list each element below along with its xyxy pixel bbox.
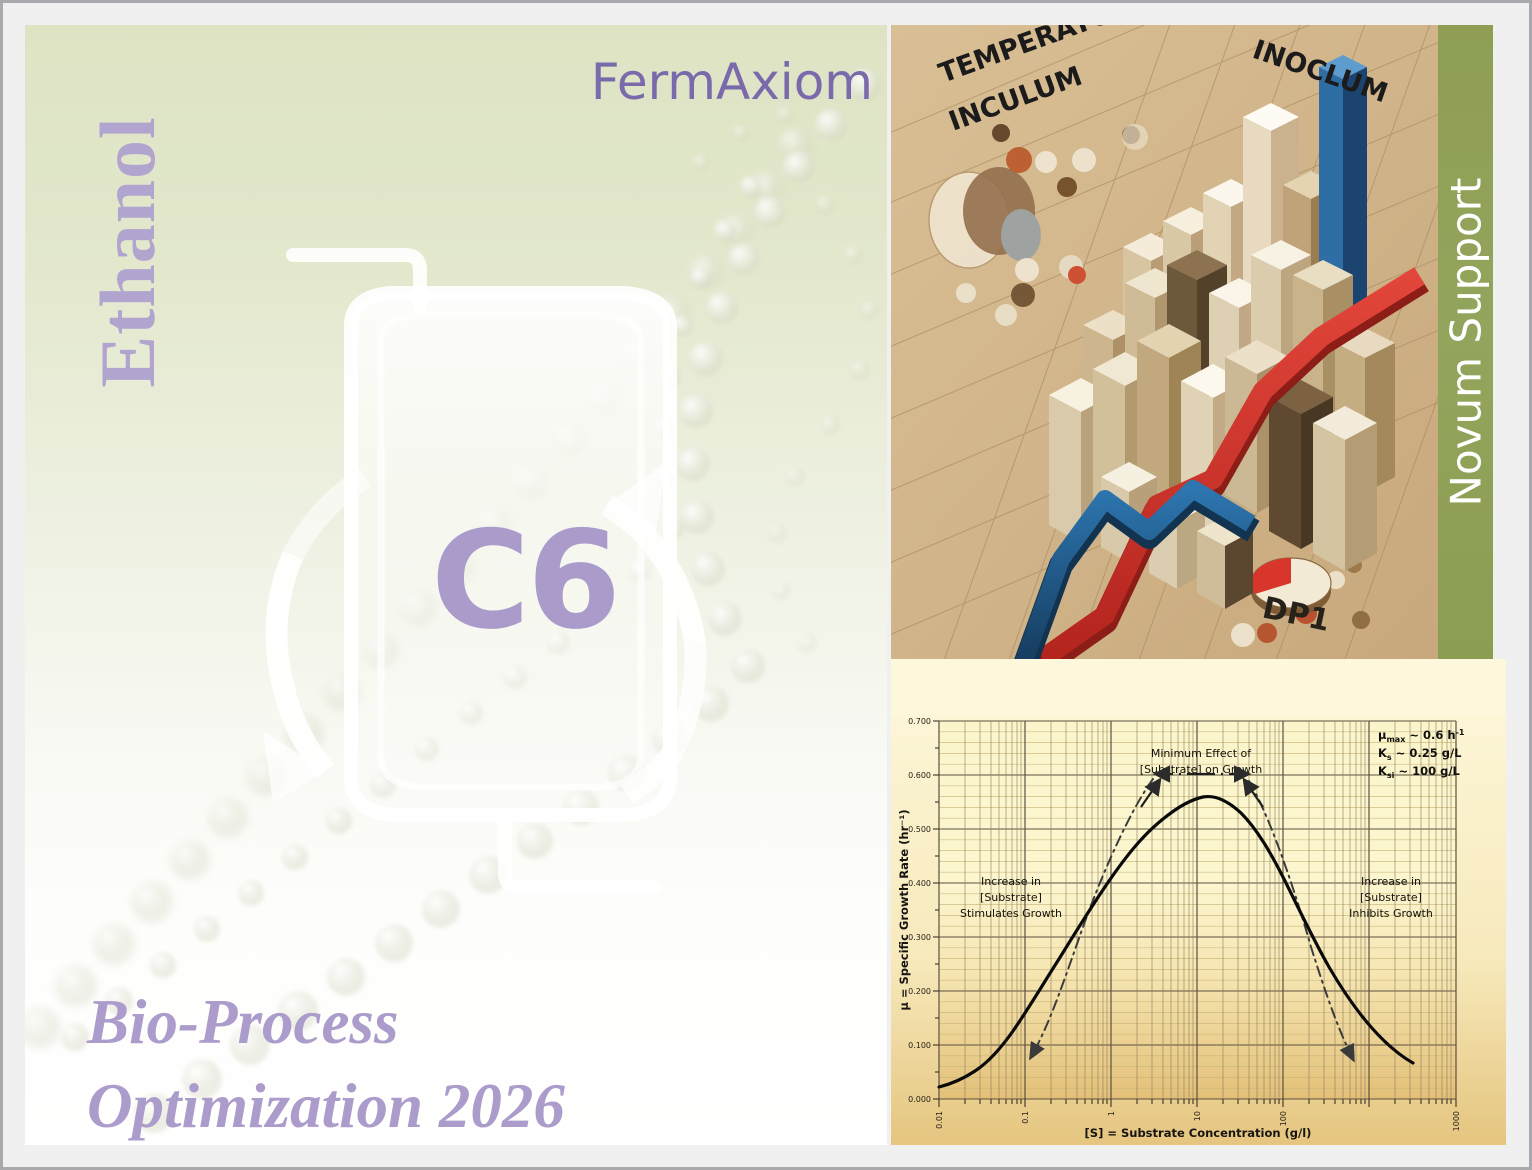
doe-3d-surface-illustration: TEMPERATURE INCULUM INOCLUM DP1	[891, 25, 1438, 659]
novum-support-sidebar: Novum Support	[1438, 25, 1493, 659]
x-tick-100: 100	[1279, 1111, 1288, 1126]
left-panel: Ethanol FermAxiom C6 Bio-Process Optimiz…	[25, 25, 887, 1145]
x-axis-label: [S] = Substrate Concentration (g/l)	[1085, 1126, 1312, 1140]
y-tick-0700: 0.700	[908, 717, 931, 726]
page-title: Bio-Process Optimization 2026	[87, 980, 565, 1145]
chart-svg: 0.700 0.600 0.500 0.400 0.300 0.200 0.10…	[891, 659, 1506, 1145]
y-tick-0200: 0.200	[908, 987, 931, 996]
y-tick-0000: 0.000	[908, 1095, 931, 1104]
svg-text:[Substrate]: [Substrate]	[980, 891, 1042, 904]
chart-plot: 0.700 0.600 0.500 0.400 0.300 0.200 0.10…	[891, 659, 1506, 1145]
growth-rate-chart-panel: Schematic Model Example For The Specific…	[891, 659, 1506, 1145]
x-tick-10: 10	[1193, 1111, 1202, 1121]
x-tick-001: 0.01	[935, 1111, 944, 1129]
parameter-box: μmax ~ 0.6 h-1 Ks ~ 0.25 g/L Ksi ~ 100 g…	[1378, 728, 1465, 780]
svg-text:Inhibits Growth: Inhibits Growth	[1349, 907, 1433, 920]
c6-logo: C6	[431, 513, 618, 648]
ethanol-vertical-label: Ethanol	[83, 87, 173, 417]
poster-canvas: Ethanol FermAxiom C6 Bio-Process Optimiz…	[0, 0, 1532, 1170]
y-axis-label: μ = Specific Growth Rate (hr⁻¹)	[897, 809, 911, 1010]
page-title-line2: Optimization 2026	[87, 1064, 565, 1145]
annotation-right: Increase in [Substrate] Inhibits Growth	[1349, 875, 1433, 920]
x-tick-1000: 1000	[1452, 1111, 1461, 1131]
y-tick-0500: 0.500	[908, 825, 931, 834]
x-tick-01: 0.1	[1021, 1111, 1030, 1124]
svg-text:[Substrate]: [Substrate]	[1360, 891, 1422, 904]
3d-bar-chart-illustration-icon: TEMPERATURE INCULUM INOCLUM DP1	[891, 25, 1438, 659]
svg-text:Increase in: Increase in	[981, 875, 1041, 888]
y-tick-0400: 0.400	[908, 879, 931, 888]
y-tick-0600: 0.600	[908, 771, 931, 780]
y-tick-0300: 0.300	[908, 933, 931, 942]
svg-text:Stimulates Growth: Stimulates Growth	[960, 907, 1062, 920]
svg-text:Increase in: Increase in	[1361, 875, 1421, 888]
sidebar-label: Novum Support	[1441, 178, 1490, 507]
x-tick-1: 1	[1107, 1111, 1116, 1116]
page-title-line1: Bio-Process	[87, 980, 565, 1064]
brand-title: FermAxiom	[591, 53, 873, 111]
y-tick-0100: 0.100	[908, 1041, 931, 1050]
svg-text:Minimum Effect of: Minimum Effect of	[1151, 747, 1252, 760]
outlet-pipe-icon	[505, 815, 655, 887]
